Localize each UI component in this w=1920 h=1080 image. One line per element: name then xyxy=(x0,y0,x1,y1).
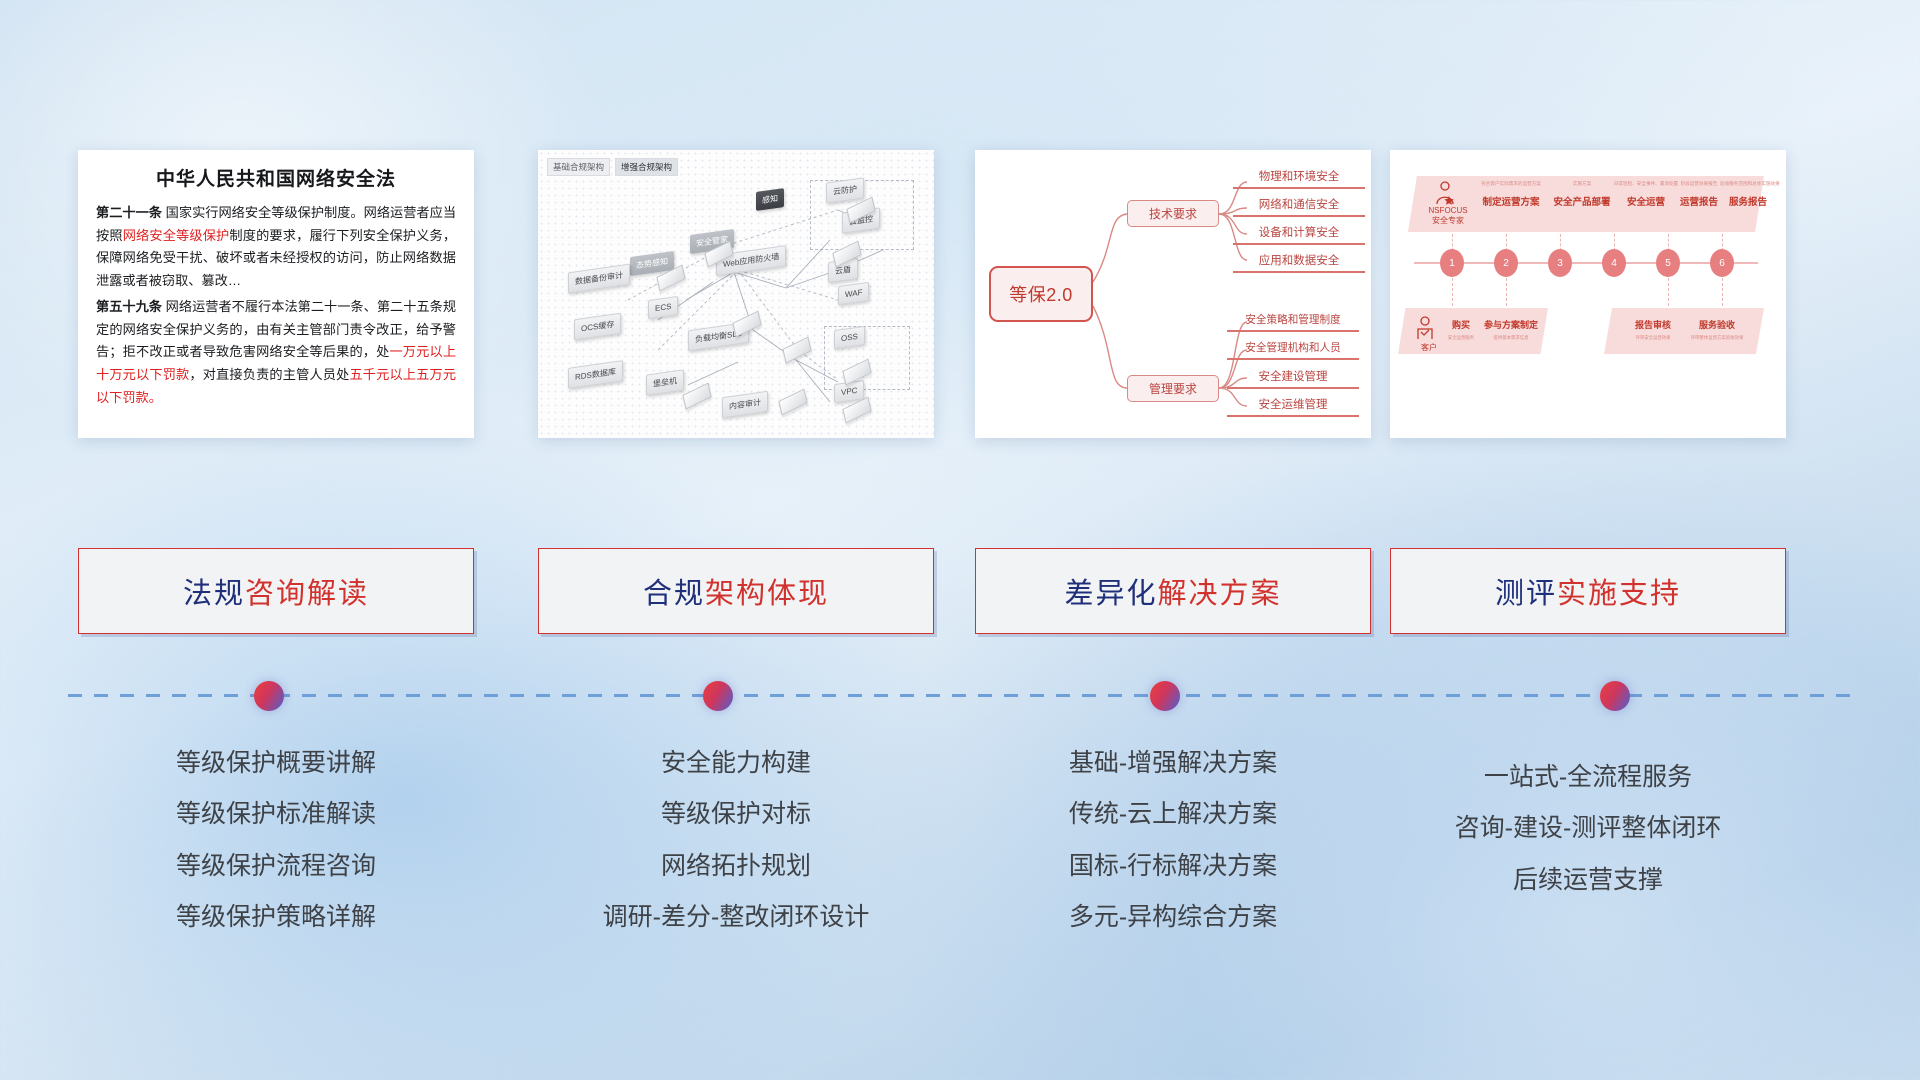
law-title: 中华人民共和国网络安全法 xyxy=(96,164,456,191)
law-text-seg: ，对直接负责的主管人员处 xyxy=(189,367,349,382)
expert-brand: NSFOCUS xyxy=(1420,206,1476,216)
list-item: 调研-差分-整改闭环设计 xyxy=(538,892,934,943)
task-title: 服务验收 xyxy=(1682,318,1752,331)
headline-red-part: 架构体现 xyxy=(705,578,829,610)
headline-red-part: 实施支持 xyxy=(1557,578,1681,610)
customer-task: 参与方案制定 提供基本需求信息 xyxy=(1480,318,1542,341)
headline-box-differentiated-solution[interactable]: 差异化解决方案 xyxy=(975,548,1371,634)
mindmap: 等保2.0 技术要求 管理要求 物理和环境安全 网络和通信安全 设备和计算安全 … xyxy=(975,150,1371,438)
mindmap-leaf: 设备和计算安全 xyxy=(1233,224,1365,245)
law-paragraph-59: 第五十九条 网络运营者不履行本法第二十一条、第二十五条规定的网络安全保护义务的，… xyxy=(96,296,456,410)
list-item: 等级保护流程咨询 xyxy=(78,841,474,892)
list-item: 多元-异构综合方案 xyxy=(975,892,1371,943)
mindmap-leaf: 安全建设管理 xyxy=(1227,368,1359,389)
headline-box-compliance-architecture[interactable]: 合规架构体现 xyxy=(538,548,934,634)
timeline-axis xyxy=(1414,262,1758,264)
expert-role: 安全专家 xyxy=(1420,216,1476,226)
step-title: 制定运营方案 xyxy=(1472,194,1550,208)
timeline-dashed-line xyxy=(68,694,1854,697)
law-article-label: 第五十九条 xyxy=(96,299,162,314)
mindmap-leaf: 安全运维管理 xyxy=(1227,396,1359,417)
headline-box-regulation-consulting[interactable]: 法规咨询解读 xyxy=(78,548,474,634)
customer-label: 客户 xyxy=(1412,342,1446,353)
customer-role: 客户 xyxy=(1421,343,1437,352)
image-card-row: 中华人民共和国网络安全法 第二十一条 国家实行网络安全等级保护制度。网络运营者应… xyxy=(0,150,1920,440)
list-item: 咨询-建设-测评整体闭环 xyxy=(1390,803,1786,854)
timeline-number: 4 xyxy=(1602,249,1626,277)
card-nsfocus-timeline[interactable]: NSFOCUS 安全专家 符合客户实际需求的运营方案 制定运营方案 实施方案 安… xyxy=(1390,150,1786,438)
mindmap-branch-management: 管理要求 xyxy=(1127,375,1219,402)
task-title: 参与方案制定 xyxy=(1480,318,1542,331)
headline-red-part: 解决方案 xyxy=(1158,578,1282,610)
mindmap-root-node: 等保2.0 xyxy=(989,266,1093,322)
list-item: 国标-行标解决方案 xyxy=(975,841,1371,892)
card-cybersecurity-law[interactable]: 中华人民共和国网络安全法 第二十一条 国家实行网络安全等级保护制度。网络运营者应… xyxy=(78,150,474,438)
timeline-number: 5 xyxy=(1656,249,1680,277)
list-item: 网络拓扑规划 xyxy=(538,841,934,892)
mindmap-leaf: 安全策略和管理制度 xyxy=(1227,312,1359,332)
timeline-marker-3[interactable] xyxy=(1150,681,1180,711)
timeline-tick xyxy=(1722,278,1723,306)
list-item: 等级保护标准解读 xyxy=(78,789,474,840)
task-subtitle: 评审整体运营方案验收效果 xyxy=(1682,335,1752,341)
list-item: 一站式-全流程服务 xyxy=(1390,752,1786,803)
step-title: 服务报告 xyxy=(1720,194,1776,208)
nsfocus-timeline: NSFOCUS 安全专家 符合客户实际需求的运营方案 制定运营方案 实施方案 安… xyxy=(1390,150,1786,438)
headline-blue-part: 合规 xyxy=(643,578,705,610)
task-subtitle: 评审安全运营效果 xyxy=(1622,335,1684,341)
step-subtitle: 实施方案 xyxy=(1546,182,1618,187)
timeline-tick xyxy=(1452,278,1453,306)
headline-box-evaluation-support[interactable]: 测评实施支持 xyxy=(1390,548,1786,634)
law-paragraph-21: 第二十一条 国家实行网络安全等级保护制度。网络运营者应当按照网络安全等级保护制度… xyxy=(96,202,456,293)
customer-tag-right: 报告审核 评审安全运营效果 服务验收 评审整体运营方案验收效果 xyxy=(1604,308,1764,354)
law-text-highlight: 网络安全等级保护 xyxy=(123,228,230,243)
headline-text: 合规架构体现 xyxy=(643,570,829,612)
list-item: 等级保护对标 xyxy=(538,789,934,840)
list-item: 等级保护概要讲解 xyxy=(78,738,474,789)
timeline-number: 6 xyxy=(1710,249,1734,277)
headline-text: 差异化解决方案 xyxy=(1064,570,1281,612)
timeline-marker-4[interactable] xyxy=(1600,681,1630,711)
expert-avatar-icon xyxy=(1432,180,1458,206)
customer-task: 购买 安全运营服务 xyxy=(1440,318,1482,341)
headline-row: 法规咨询解读 合规架构体现 差异化解决方案 测评实施支持 xyxy=(0,548,1920,638)
mindmap-leaf: 安全管理机构和人员 xyxy=(1227,340,1359,360)
headline-text: 法规咨询解读 xyxy=(183,570,369,612)
list-item: 安全能力构建 xyxy=(538,738,934,789)
headline-blue-part: 差异化 xyxy=(1064,578,1157,610)
timeline-step: 符合客户实际需求的运营方案 制定运营方案 xyxy=(1472,182,1550,208)
timeline-marker-1[interactable] xyxy=(254,681,284,711)
headline-blue-part: 测评 xyxy=(1495,578,1557,610)
timeline-number: 1 xyxy=(1440,249,1464,277)
card-compliance-architecture[interactable]: 基础合规架构 增强合规架构 xyxy=(538,150,934,438)
detail-column-evaluation: 一站式-全流程服务 咨询-建设-测评整体闭环 后续运营支撑 xyxy=(1390,752,1786,906)
timeline-step: 验收服务范围和总体实施效果 服务报告 xyxy=(1720,182,1776,208)
law-document: 中华人民共和国网络安全法 第二十一条 国家实行网络安全等级保护制度。网络运营者应… xyxy=(78,150,474,419)
step-subtitle: 符合客户实际需求的运营方案 xyxy=(1472,182,1550,187)
architecture-node: 感知 xyxy=(756,188,784,211)
step-subtitle: 验收服务范围和总体实施效果 xyxy=(1720,182,1776,187)
customer-task: 服务验收 评审整体运营方案验收效果 xyxy=(1682,318,1752,341)
mindmap-leaf: 应用和数据安全 xyxy=(1233,252,1365,273)
task-title: 报告审核 xyxy=(1622,318,1684,331)
timeline-number: 3 xyxy=(1548,249,1572,277)
timeline-step: 实施方案 安全产品部署 xyxy=(1546,182,1618,208)
expert-label: NSFOCUS 安全专家 xyxy=(1420,206,1476,226)
list-item: 传统-云上解决方案 xyxy=(975,789,1371,840)
timeline-tick xyxy=(1506,278,1507,306)
card-mindmap-dengbao[interactable]: 等保2.0 技术要求 管理要求 物理和环境安全 网络和通信安全 设备和计算安全 … xyxy=(975,150,1371,438)
customer-avatar-icon xyxy=(1414,316,1436,340)
list-item: 后续运营支撑 xyxy=(1390,855,1786,906)
mindmap-leaf: 网络和通信安全 xyxy=(1233,196,1365,217)
timeline-number: 2 xyxy=(1494,249,1518,277)
law-article-label: 第二十一条 xyxy=(96,205,162,220)
list-item: 等级保护策略详解 xyxy=(78,892,474,943)
task-subtitle: 提供基本需求信息 xyxy=(1480,335,1542,341)
detail-column-solution: 基础-增强解决方案 传统-云上解决方案 国标-行标解决方案 多元-异构综合方案 xyxy=(975,738,1371,943)
step-title: 安全产品部署 xyxy=(1546,194,1618,208)
mindmap-branch-technical: 技术要求 xyxy=(1127,200,1219,227)
customer-task: 报告审核 评审安全运营效果 xyxy=(1622,318,1684,341)
headline-blue-part: 法规 xyxy=(183,578,245,610)
task-title: 购买 xyxy=(1440,318,1482,331)
detail-column-architecture: 安全能力构建 等级保护对标 网络拓扑规划 调研-差分-整改闭环设计 xyxy=(538,738,934,943)
architecture-diagram: 基础合规架构 增强合规架构 xyxy=(538,150,934,438)
timeline-marker-2[interactable] xyxy=(703,681,733,711)
headline-red-part: 咨询解读 xyxy=(245,578,369,610)
task-subtitle: 安全运营服务 xyxy=(1440,335,1482,341)
mindmap-leaf: 物理和环境安全 xyxy=(1233,168,1365,189)
detail-column-regulation: 等级保护概要讲解 等级保护标准解读 等级保护流程咨询 等级保护策略详解 xyxy=(78,738,474,943)
list-item: 基础-增强解决方案 xyxy=(975,738,1371,789)
headline-text: 测评实施支持 xyxy=(1495,570,1681,612)
timeline-tick xyxy=(1668,278,1669,306)
